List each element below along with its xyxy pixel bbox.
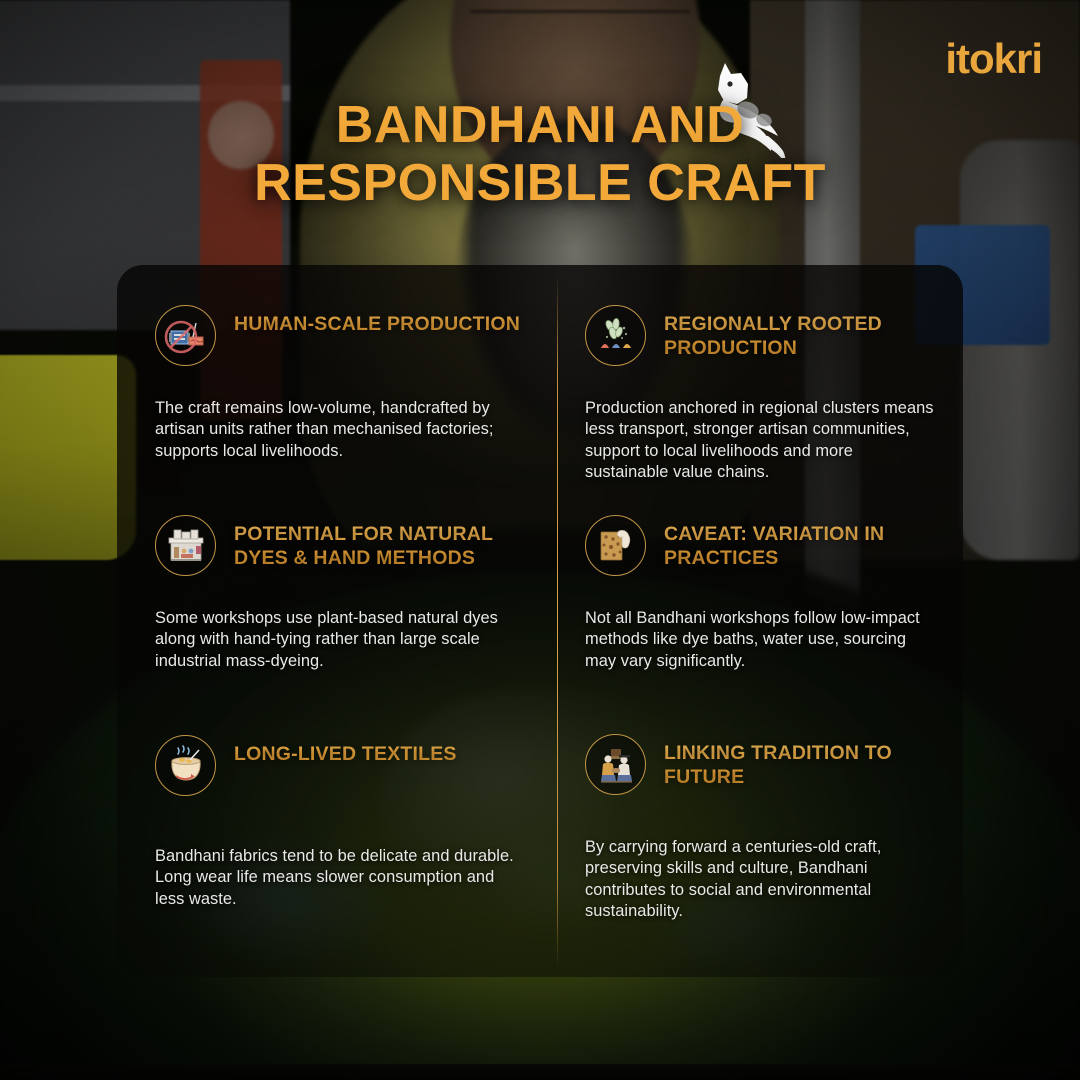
brand-logo[interactable]: itokri [945, 38, 1042, 80]
section-header: POTENTIAL FOR NATURAL DYES & HAND METHOD… [155, 515, 527, 576]
sections-grid: HUMAN-SCALE PRODUCTION The craft remains… [117, 265, 963, 977]
section-body: Not all Bandhani workshops follow low-im… [585, 608, 937, 672]
section-header: LINKING TRADITION TO FUTURE [585, 734, 937, 795]
workshop-building-icon [155, 515, 216, 576]
steaming-dye-pot-icon [155, 735, 216, 796]
section-linking-tradition-to-future: LINKING TRADITION TO FUTURE By carrying … [557, 685, 963, 977]
section-body: Bandhani fabrics tend to be delicate and… [155, 846, 527, 910]
section-title: CAVEAT: VARIATION IN PRACTICES [664, 515, 937, 571]
section-title: LONG-LIVED TEXTILES [234, 735, 457, 767]
section-body: The craft remains low-volume, handcrafte… [155, 398, 527, 462]
section-title: REGIONALLY ROOTED PRODUCTION [664, 305, 937, 361]
section-header: CAVEAT: VARIATION IN PRACTICES [585, 515, 937, 576]
header: itokri BANDHANI AND RESPONSIBLE CRAFT [0, 0, 1080, 262]
section-body: Production anchored in regional clusters… [585, 398, 937, 483]
natural-dye-leaves-icon [585, 305, 646, 366]
section-natural-dyes-hand-methods: POTENTIAL FOR NATURAL DYES & HAND METHOD… [117, 475, 557, 685]
page-title: BANDHANI AND RESPONSIBLE CRAFT [0, 96, 1080, 212]
section-header: HUMAN-SCALE PRODUCTION [155, 305, 527, 366]
section-title: POTENTIAL FOR NATURAL DYES & HAND METHOD… [234, 515, 527, 571]
section-title: HUMAN-SCALE PRODUCTION [234, 305, 520, 337]
hand-holding-fabric-icon [585, 515, 646, 576]
section-human-scale-production: HUMAN-SCALE PRODUCTION The craft remains… [117, 265, 557, 475]
infographic-canvas: itokri BANDHANI AND RESPONSIBLE CRAFT [0, 0, 1080, 1080]
page-title-line2: RESPONSIBLE CRAFT [0, 154, 1080, 212]
section-body: By carrying forward a centuries-old craf… [585, 837, 937, 922]
page-title-line1: BANDHANI AND [336, 96, 745, 154]
brand-logo-text: itokri [945, 35, 1042, 82]
section-header: LONG-LIVED TEXTILES [155, 735, 527, 796]
section-body: Some workshops use plant-based natural d… [155, 608, 527, 672]
section-regionally-rooted-production: REGIONALLY ROOTED PRODUCTION Production … [557, 265, 963, 475]
two-artisans-icon [585, 734, 646, 795]
section-title: LINKING TRADITION TO FUTURE [664, 734, 937, 790]
section-long-lived-textiles: LONG-LIVED TEXTILES Bandhani fabrics ten… [117, 685, 557, 977]
content-card: HUMAN-SCALE PRODUCTION The craft remains… [117, 265, 963, 977]
section-header: REGIONALLY ROOTED PRODUCTION [585, 305, 937, 366]
no-factory-icon [155, 305, 216, 366]
section-caveat-variation-in-practices: CAVEAT: VARIATION IN PRACTICES Not all B… [557, 475, 963, 685]
